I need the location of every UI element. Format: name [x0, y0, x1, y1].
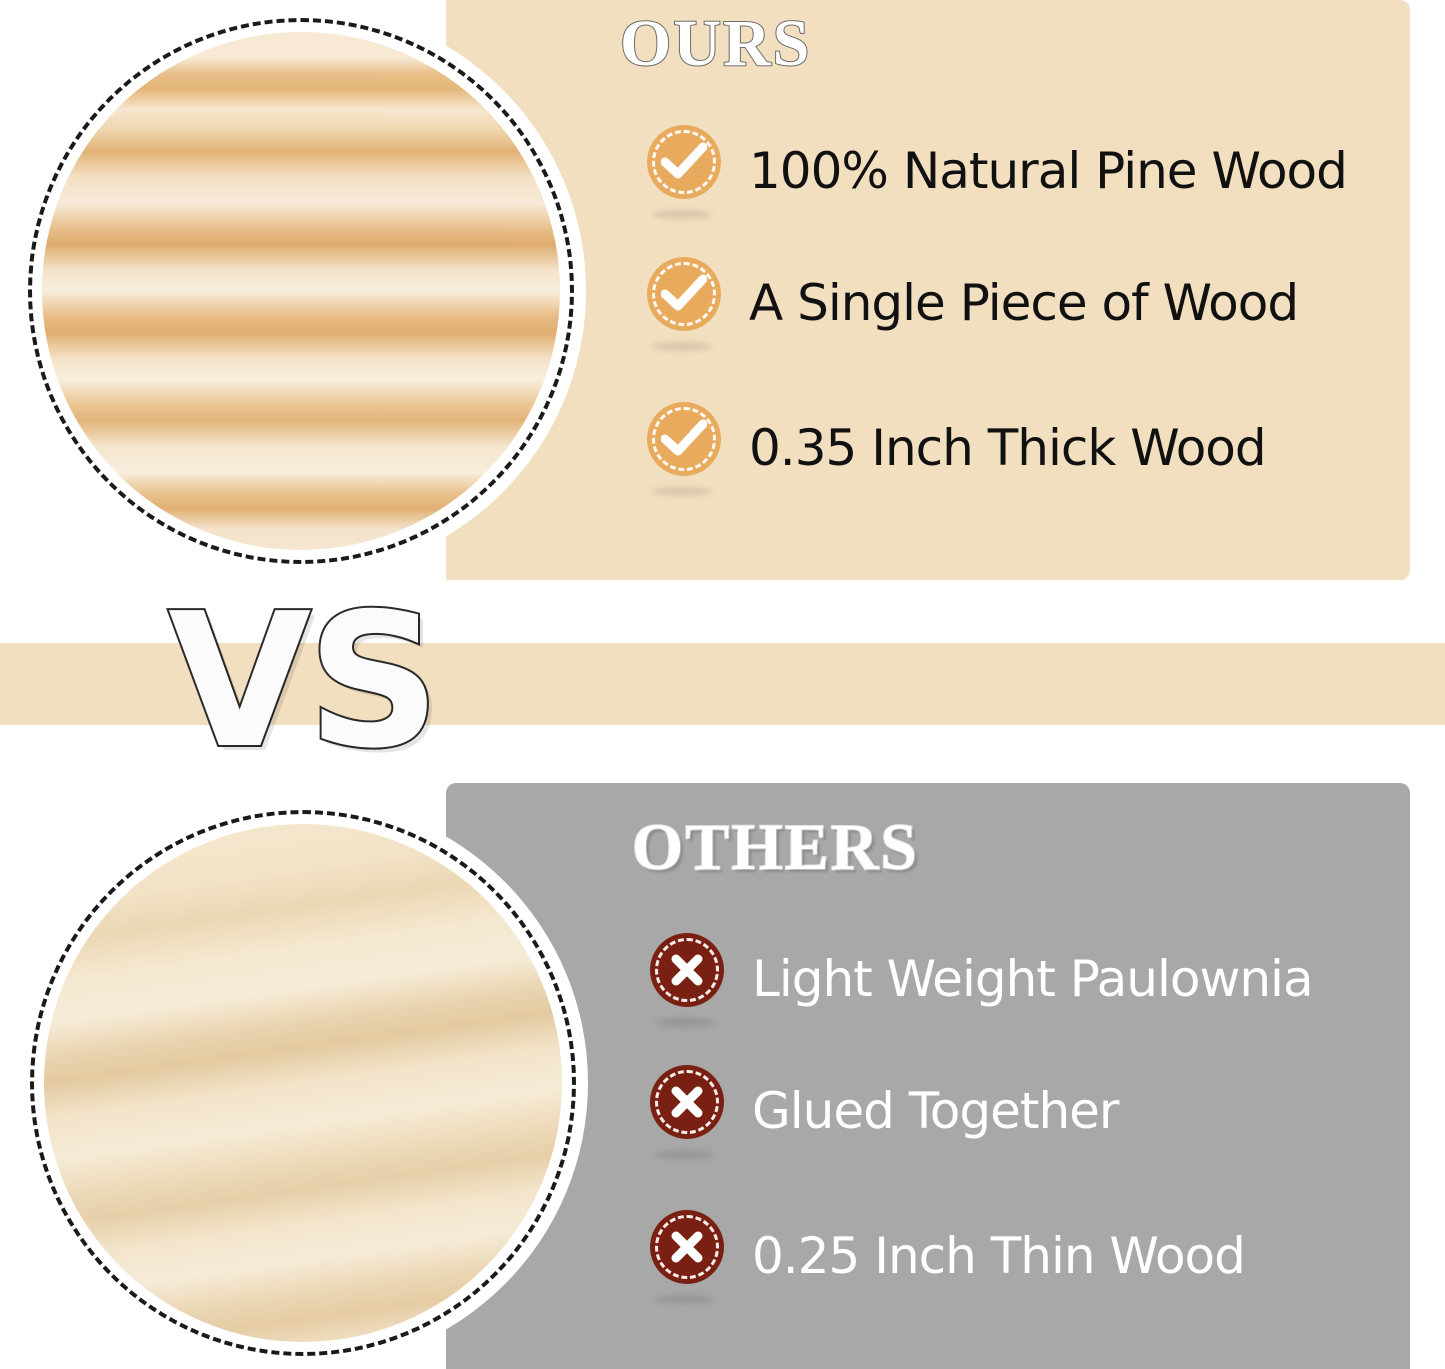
ours-product-image — [16, 6, 586, 576]
check-icon — [645, 257, 723, 349]
others-product-image — [18, 798, 588, 1368]
ours-feature-label: A Single Piece of Wood — [749, 275, 1298, 331]
cross-icon — [648, 1065, 726, 1157]
cross-icon — [648, 933, 726, 1025]
ours-feature-label: 0.35 Inch Thick Wood — [749, 420, 1266, 476]
others-feature-label: 0.25 Inch Thin Wood — [752, 1228, 1245, 1284]
others-feature-row: 0.25 Inch Thin Wood — [648, 1183, 1388, 1328]
ours-feature-row: 100% Natural Pine Wood — [645, 112, 1385, 230]
others-title: OTHERS — [632, 812, 919, 884]
comparison-infographic: VS OURS 100% Natural — [0, 0, 1445, 1369]
check-icon — [645, 125, 723, 217]
others-feature-label: Glued Together — [752, 1083, 1118, 1139]
others-feature-row: Light Weight Paulownia — [648, 920, 1388, 1038]
ours-feature-row: A Single Piece of Wood — [645, 230, 1385, 375]
ours-feature-label: 100% Natural Pine Wood — [749, 143, 1347, 199]
others-feature-list: Light Weight Paulownia Glued Together — [648, 920, 1388, 1328]
others-feature-row: Glued Together — [648, 1038, 1388, 1183]
ours-title: OURS — [620, 8, 811, 80]
check-icon — [645, 402, 723, 494]
ours-feature-row: 0.35 Inch Thick Wood — [645, 375, 1385, 520]
others-feature-label: Light Weight Paulownia — [752, 951, 1313, 1007]
cross-icon — [648, 1210, 726, 1302]
paulownia-wood-texture — [44, 824, 562, 1342]
ours-feature-list: 100% Natural Pine Wood A Single Piece of… — [645, 112, 1385, 520]
vs-label: VS — [168, 596, 468, 766]
pine-wood-texture — [42, 32, 560, 550]
